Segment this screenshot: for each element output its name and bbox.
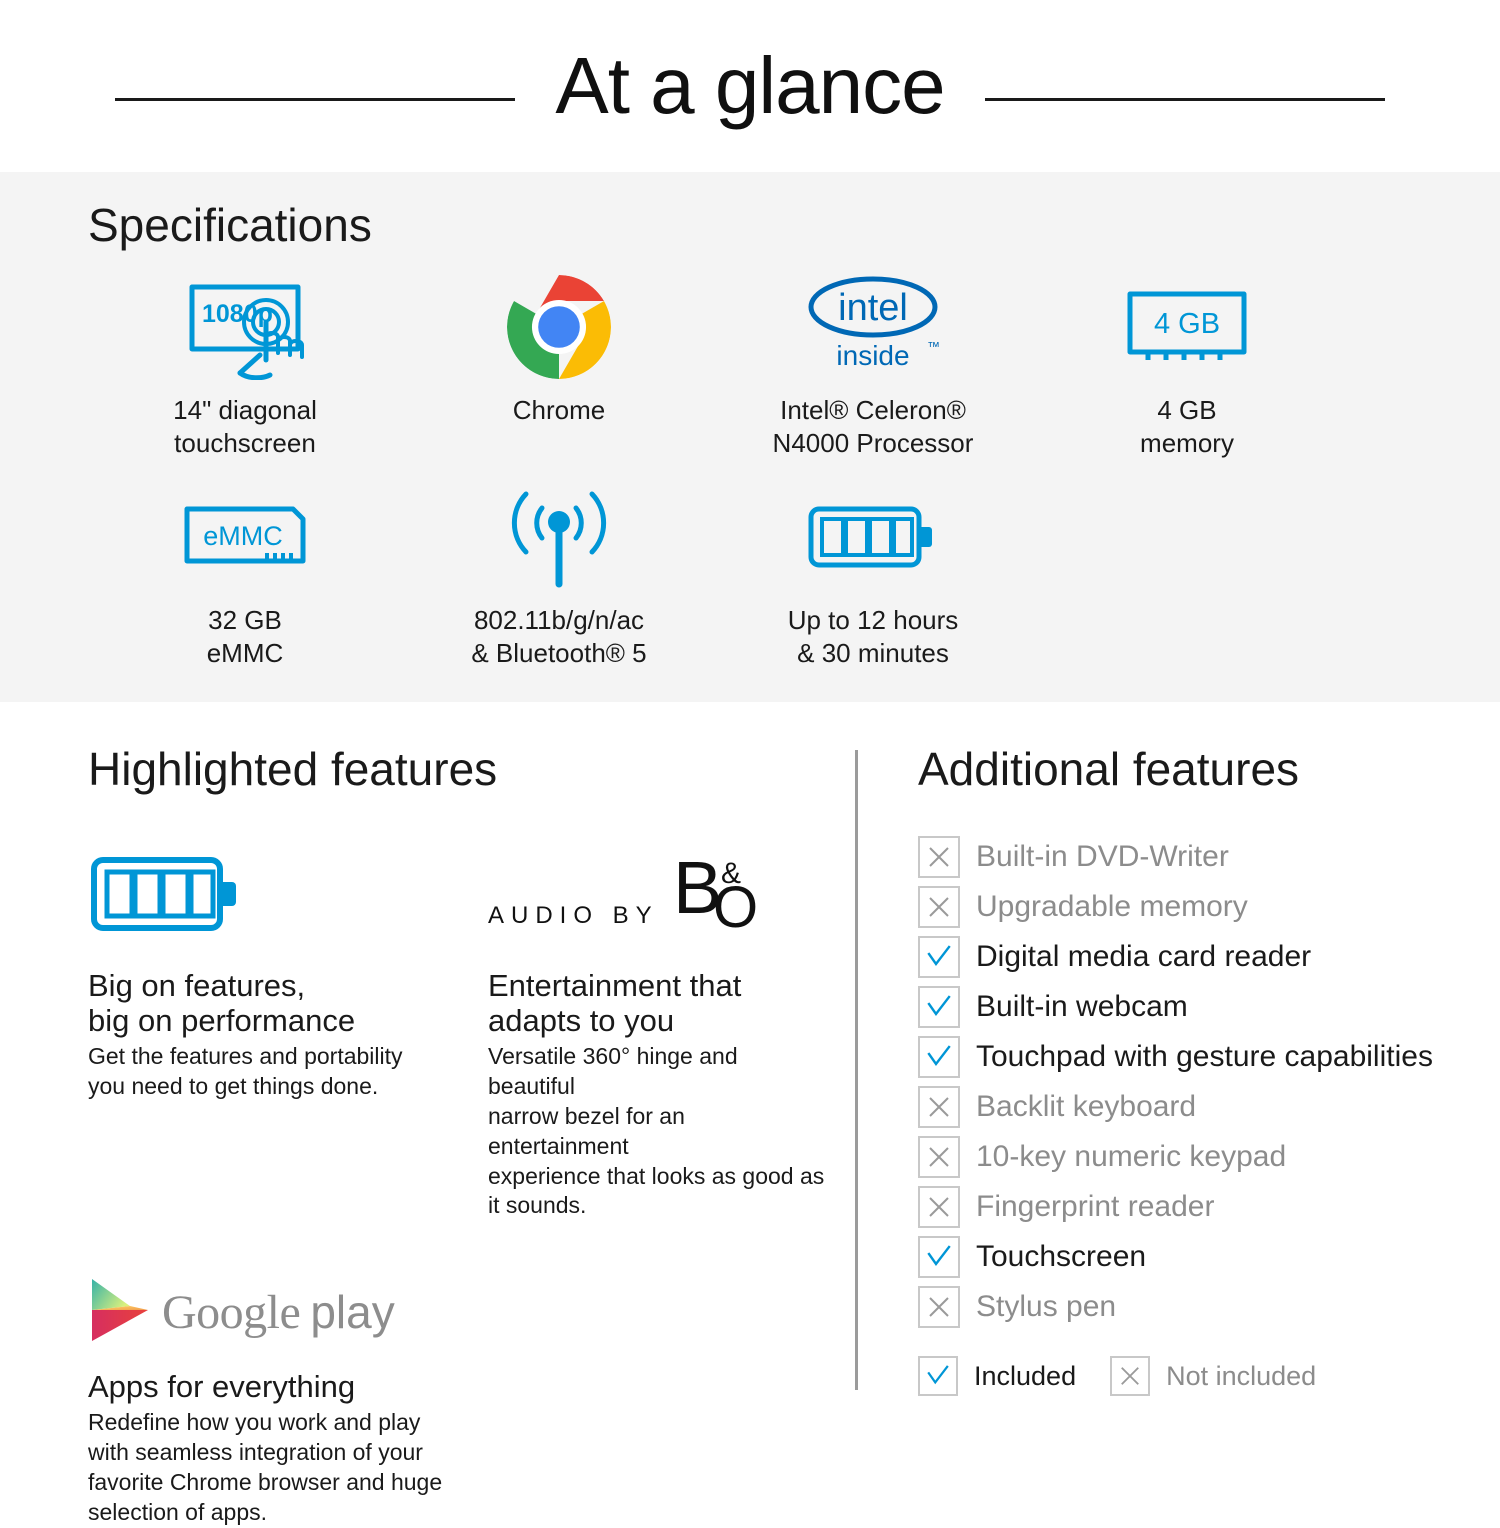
spec-item-chrome: Chrome bbox=[402, 272, 716, 482]
emmc-storage-icon: eMMC bbox=[175, 482, 315, 592]
intel-inside-icon: intel inside ™ bbox=[793, 272, 953, 382]
check-icon bbox=[918, 1236, 960, 1278]
spec-item-empty bbox=[1030, 482, 1344, 669]
cross-icon bbox=[918, 886, 960, 928]
chrome-icon bbox=[507, 272, 611, 382]
cross-icon bbox=[918, 1086, 960, 1128]
list-item: Upgradable memory bbox=[918, 882, 1478, 932]
svg-text:intel: intel bbox=[838, 287, 908, 329]
legend-included-label: Included bbox=[974, 1361, 1076, 1392]
spec-label: Chrome bbox=[513, 394, 605, 427]
svg-text:eMMC: eMMC bbox=[203, 521, 283, 551]
battery-icon bbox=[88, 836, 488, 946]
list-item: Digital media card reader bbox=[918, 932, 1478, 982]
additional-features-section: Additional features Built-in DVD-Writer … bbox=[918, 742, 1478, 1396]
list-item: Stylus pen bbox=[918, 1282, 1478, 1332]
list-item: Touchscreen bbox=[918, 1232, 1478, 1282]
list-item: Built-in DVD-Writer bbox=[918, 832, 1478, 882]
header-rule-right bbox=[985, 98, 1385, 101]
spec-label: 32 GB eMMC bbox=[207, 604, 284, 669]
feature-block-google-play: Google play Apps for everything Redefine… bbox=[88, 1277, 488, 1528]
feature-heading: Entertainment that adapts to you bbox=[488, 968, 828, 1038]
highlighted-features-section: Highlighted features Big on features, bbox=[88, 742, 828, 1528]
specifications-panel: Specifications 1080p bbox=[0, 172, 1500, 702]
bang-olufsen-logo: AUDIO BY B & O bbox=[488, 836, 828, 946]
header-rule-left bbox=[115, 98, 515, 101]
feature-body: Redefine how you work and play with seam… bbox=[88, 1408, 488, 1528]
check-icon bbox=[918, 936, 960, 978]
svg-text:™: ™ bbox=[927, 339, 940, 354]
feature-block-performance: Big on features, big on performance Get … bbox=[88, 836, 488, 1221]
specifications-row: eMMC 32 GB eMMC bbox=[88, 482, 1418, 669]
touchscreen-icon: 1080p bbox=[170, 272, 320, 382]
cross-icon bbox=[918, 1286, 960, 1328]
spec-label: 4 GB memory bbox=[1140, 394, 1234, 459]
page-title: At a glance bbox=[555, 46, 944, 126]
spec-label: 14" diagonal touchscreen bbox=[173, 394, 317, 459]
additional-features-list: Built-in DVD-Writer Upgradable memory Di… bbox=[918, 832, 1478, 1396]
additional-features-title: Additional features bbox=[918, 742, 1478, 796]
battery-icon bbox=[805, 482, 941, 592]
play-triangle-icon bbox=[88, 1276, 152, 1349]
bo-mark-icon: B & O bbox=[673, 853, 765, 946]
spec-item-storage: eMMC 32 GB eMMC bbox=[88, 482, 402, 669]
check-icon bbox=[918, 986, 960, 1028]
highlighted-features-title: Highlighted features bbox=[88, 742, 828, 796]
highlighted-features-row: Big on features, big on performance Get … bbox=[88, 836, 828, 1221]
play-wordmark: play bbox=[310, 1285, 394, 1339]
feature-body: Get the features and portability you nee… bbox=[88, 1042, 488, 1102]
specifications-title: Specifications bbox=[88, 198, 372, 252]
spec-item-touchscreen: 1080p 14" diagonal touchscreen bbox=[88, 272, 402, 482]
svg-text:inside: inside bbox=[836, 340, 909, 371]
cross-icon bbox=[918, 836, 960, 878]
page-header: At a glance bbox=[0, 0, 1500, 172]
list-item: Touchpad with gesture capabilities bbox=[918, 1032, 1478, 1082]
audio-by-text: AUDIO BY bbox=[488, 902, 659, 946]
memory-module-icon: 4 GB bbox=[1122, 272, 1252, 382]
list-item: 10-key numeric keypad bbox=[918, 1132, 1478, 1182]
spec-item-battery: Up to 12 hours & 30 minutes bbox=[716, 482, 1030, 669]
cross-icon bbox=[918, 1136, 960, 1178]
list-item: Built-in webcam bbox=[918, 982, 1478, 1032]
spec-label: Up to 12 hours & 30 minutes bbox=[788, 604, 959, 669]
feature-block-audio: AUDIO BY B & O Entertainment that adapts… bbox=[488, 836, 828, 1221]
spec-label: 802.11b/g/n/ac & Bluetooth® 5 bbox=[471, 604, 646, 669]
spec-item-memory: 4 GB 4 GB memory bbox=[1030, 272, 1344, 482]
google-wordmark: Google bbox=[162, 1285, 300, 1340]
cross-icon bbox=[1110, 1356, 1150, 1396]
feature-heading: Apps for everything bbox=[88, 1369, 488, 1404]
specifications-row: 1080p 14" diagonal touchscreen bbox=[88, 272, 1418, 482]
wireless-antenna-icon bbox=[494, 482, 624, 592]
spec-label: Intel® Celeron® N4000 Processor bbox=[773, 394, 974, 459]
column-divider bbox=[855, 750, 858, 1390]
feature-heading: Big on features, big on performance bbox=[88, 968, 488, 1038]
list-item: Fingerprint reader bbox=[918, 1182, 1478, 1232]
cross-icon bbox=[918, 1186, 960, 1228]
check-icon bbox=[918, 1356, 958, 1396]
svg-text:O: O bbox=[713, 875, 758, 940]
check-icon bbox=[918, 1036, 960, 1078]
svg-text:4 GB: 4 GB bbox=[1154, 308, 1220, 340]
specifications-grid: 1080p 14" diagonal touchscreen bbox=[88, 272, 1418, 669]
additional-features-legend: Included Not included bbox=[918, 1356, 1478, 1396]
spec-item-processor: intel inside ™ Intel® Celeron® N4000 Pro… bbox=[716, 272, 1030, 482]
google-play-logo: Google play bbox=[88, 1277, 488, 1347]
svg-text:1080p: 1080p bbox=[202, 300, 273, 328]
feature-body: Versatile 360° hinge and beautiful narro… bbox=[488, 1042, 828, 1221]
spec-item-wireless: 802.11b/g/n/ac & Bluetooth® 5 bbox=[402, 482, 716, 669]
list-item: Backlit keyboard bbox=[918, 1082, 1478, 1132]
legend-not-included-label: Not included bbox=[1166, 1361, 1316, 1392]
